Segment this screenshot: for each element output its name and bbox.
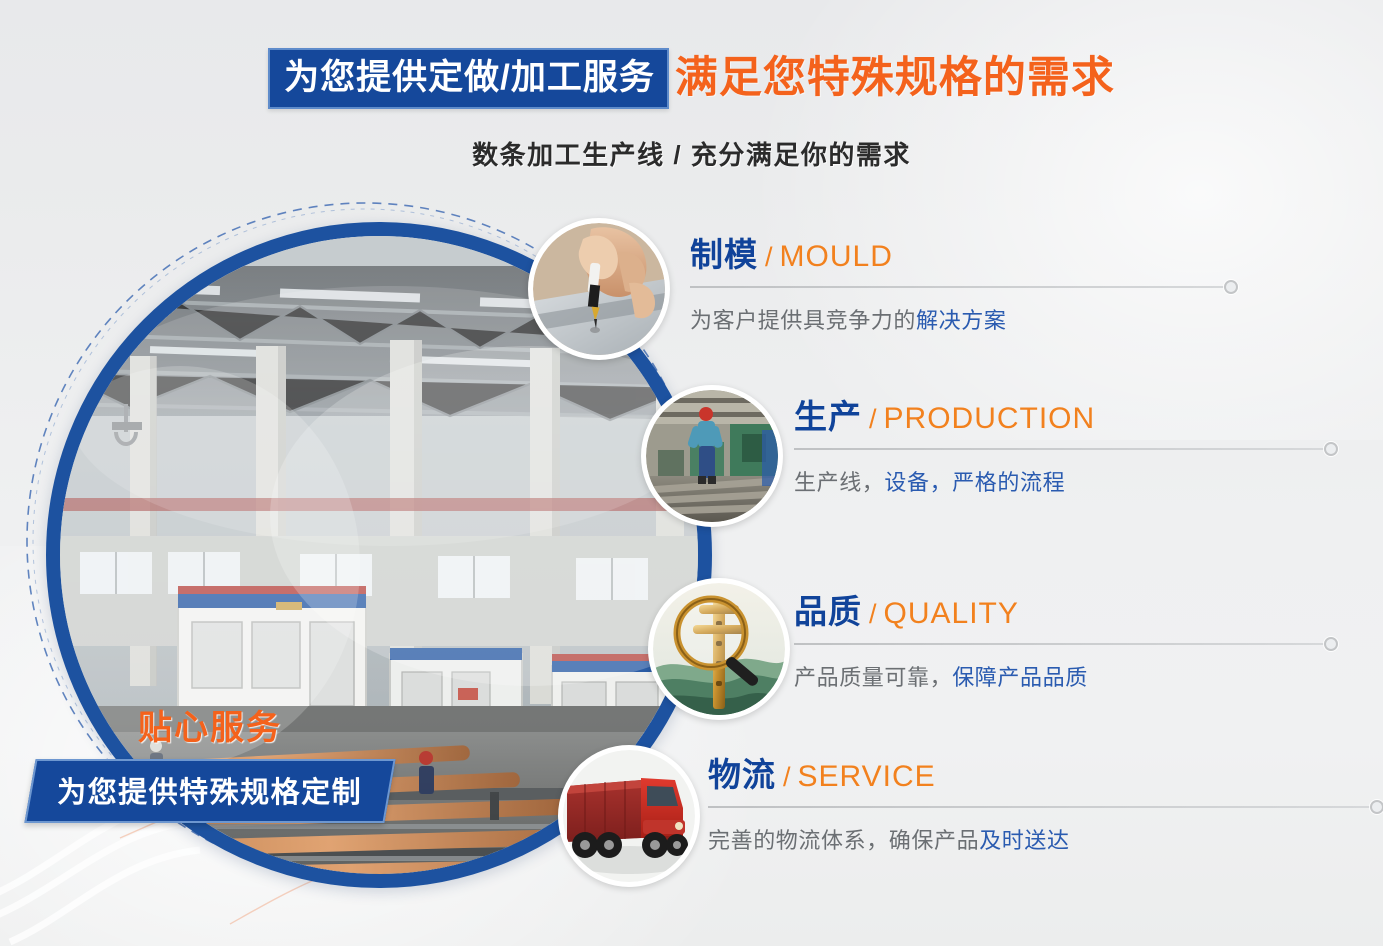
feature-text-mould: 制模/MOULD 为客户提供具竞争力的解决方案: [690, 238, 1226, 335]
feature-heading-mould: 制模/MOULD: [690, 238, 1226, 272]
feature-separator: /: [783, 762, 791, 792]
title-row: 为您提供定做/加工服务 满足您特殊规格的需求: [268, 48, 1115, 109]
title-highlight: 满足您特殊规格的需求: [675, 57, 1115, 100]
feature-rule-endpoint-dot: [1324, 637, 1338, 651]
feature-rule: [708, 806, 1372, 808]
feature-separator: /: [869, 599, 877, 629]
feature-en-title: PRODUCTION: [884, 402, 1096, 435]
feature-text-production: 生产/PRODUCTION 生产线，设备，严格的流程: [794, 400, 1326, 497]
feature-description-production: 生产线，设备，严格的流程: [794, 465, 1326, 497]
banner-header: 为您提供定做/加工服务 满足您特殊规格的需求 数条加工生产线 / 充分满足你的需…: [0, 48, 1383, 172]
feature-cn-title: 生产: [794, 398, 862, 435]
feature-rule: [794, 643, 1326, 645]
feature-cn-title: 物流: [708, 756, 776, 793]
feature-desc-plain: 产品质量可靠，: [794, 665, 952, 690]
feature-separator: /: [765, 242, 773, 272]
feature-heading-production: 生产/PRODUCTION: [794, 400, 1326, 434]
feature-cn-title: 制模: [690, 236, 758, 273]
title-badge: 为您提供定做/加工服务: [268, 48, 669, 109]
feature-desc-plain: 完善的物流体系，确保产品: [708, 828, 979, 853]
feature-heading-service: 物流/SERVICE: [708, 758, 1372, 792]
promo-banner: 为您提供定做/加工服务 满足您特殊规格的需求 数条加工生产线 / 充分满足你的需…: [0, 0, 1383, 946]
feature-desc-highlight: 及时送达: [979, 828, 1069, 853]
thumb-quality[interactable]: [648, 578, 790, 720]
feature-rule-endpoint-dot: [1324, 442, 1338, 456]
feature-description-quality: 产品质量可靠，保障产品品质: [794, 660, 1326, 692]
feature-rule: [690, 286, 1226, 288]
feature-rule-endpoint-dot: [1224, 280, 1238, 294]
thumb-service[interactable]: [558, 745, 700, 887]
feature-en-title: QUALITY: [884, 597, 1019, 630]
feature-rule-endpoint-dot: [1370, 800, 1383, 814]
callout-title: 贴心服务: [30, 700, 390, 749]
feature-desc-highlight: 保障产品品质: [952, 665, 1088, 690]
feature-desc-plain: 生产线，: [794, 470, 884, 495]
feature-en-title: SERVICE: [798, 760, 936, 793]
feature-rule: [794, 448, 1326, 450]
thumb-mould[interactable]: [528, 218, 670, 360]
thumb-production[interactable]: [641, 385, 783, 527]
callout-badge: 为您提供特殊规格定制: [24, 759, 395, 823]
feature-separator: /: [869, 404, 877, 434]
feature-cn-title: 品质: [794, 593, 862, 630]
feature-text-quality: 品质/QUALITY 产品质量可靠，保障产品品质: [794, 595, 1326, 692]
feature-description-service: 完善的物流体系，确保产品及时送达: [708, 823, 1372, 855]
feature-en-title: MOULD: [780, 240, 893, 273]
feature-description-mould: 为客户提供具竞争力的解决方案: [690, 303, 1226, 335]
feature-heading-quality: 品质/QUALITY: [794, 595, 1326, 629]
feature-desc-plain: 为客户提供具竞争力的: [690, 308, 916, 333]
callout-badge-label: 为您提供特殊规格定制: [58, 769, 363, 811]
service-callout: 贴心服务 为您提供特殊规格定制: [30, 700, 390, 823]
banner-subtitle: 数条加工生产线 / 充分满足你的需求: [0, 135, 1383, 172]
feature-text-service: 物流/SERVICE 完善的物流体系，确保产品及时送达: [708, 758, 1372, 855]
thumb-quality-image: [653, 583, 785, 715]
thumb-production-image: [646, 390, 778, 522]
feature-desc-highlight: 解决方案: [916, 308, 1006, 333]
thumb-mould-image: [533, 223, 665, 355]
feature-desc-highlight: 设备，严格的流程: [884, 470, 1065, 495]
thumb-service-image: [563, 750, 695, 882]
